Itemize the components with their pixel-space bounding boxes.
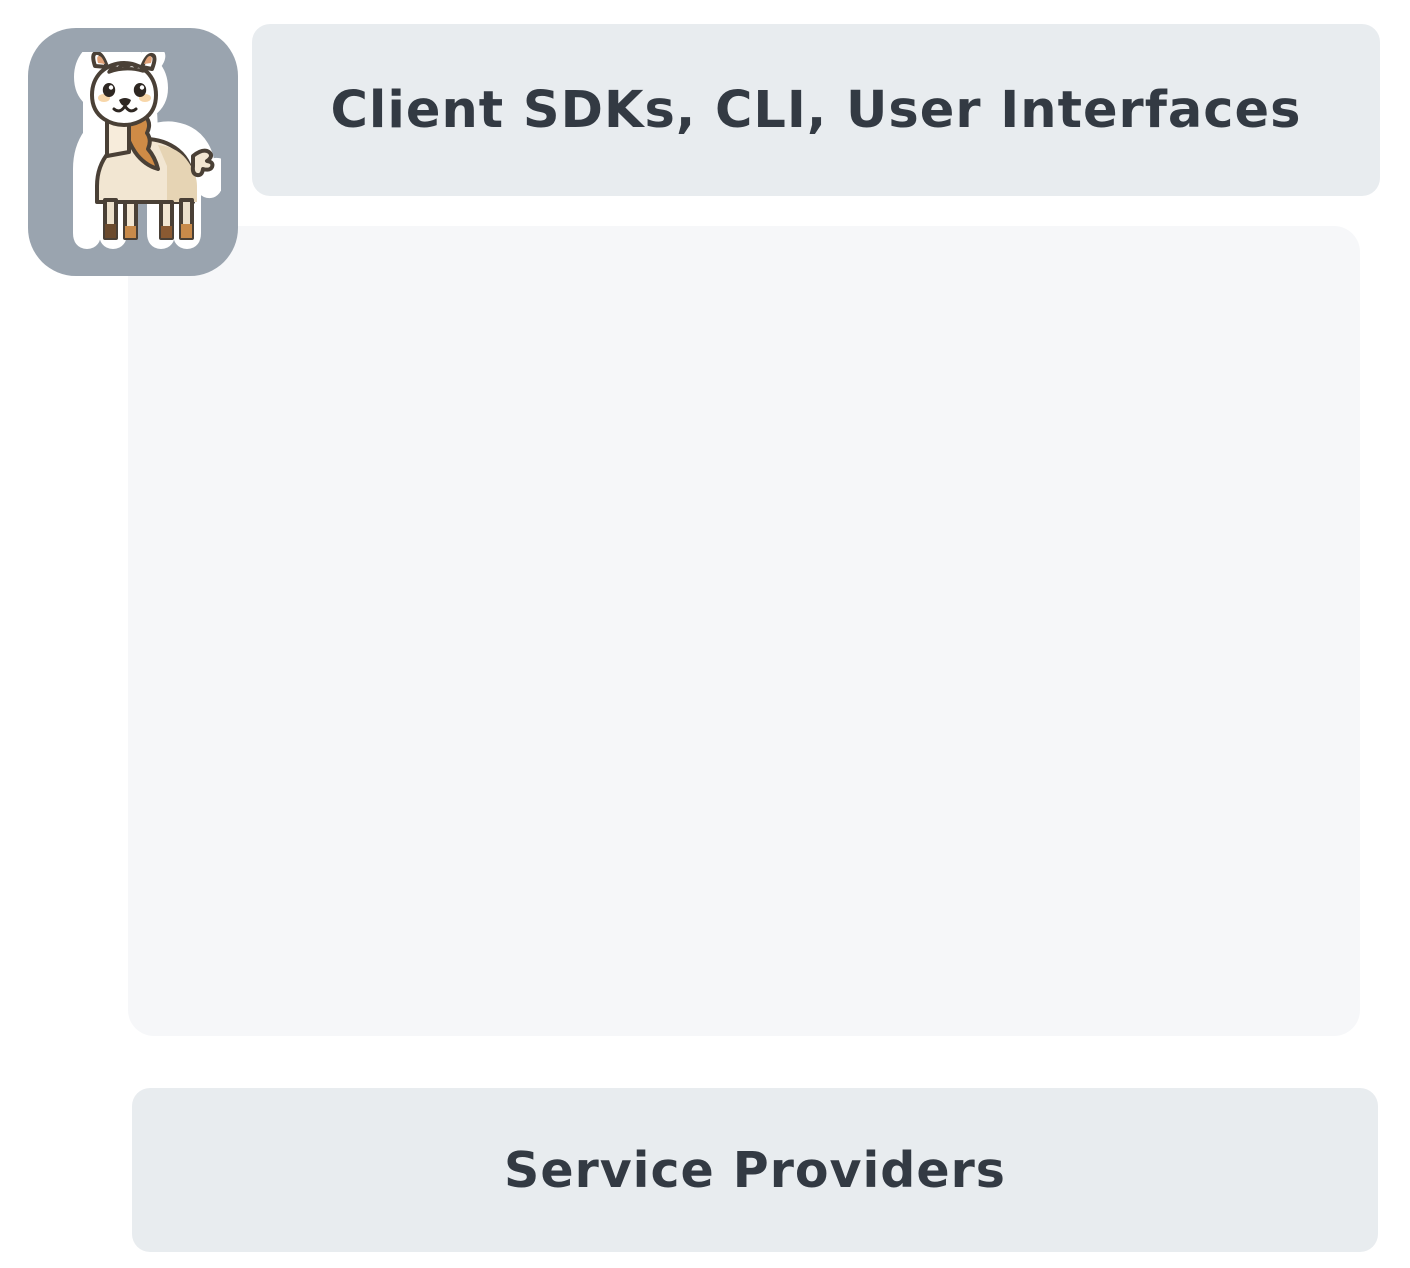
client-layer-label: Client SDKs, CLI, User Interfaces [331, 81, 1302, 140]
llama-logo-icon [28, 28, 238, 276]
service-providers-label: Service Providers [504, 1142, 1006, 1199]
main-panel [128, 226, 1360, 1036]
service-providers-banner: Service Providers [132, 1088, 1378, 1252]
client-layer-banner: Client SDKs, CLI, User Interfaces [252, 24, 1380, 196]
llama-logo-tile [28, 28, 238, 276]
